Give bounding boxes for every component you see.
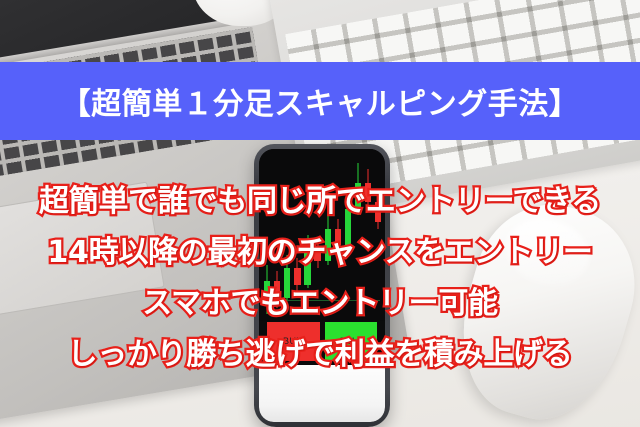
headline-line-3: スマホでもエントリー可能	[142, 278, 498, 329]
headline-line-1: 超簡単で誰でも同じ所でエントリーできる	[39, 176, 601, 227]
thumbnail-image: BUY SELL 【超簡単１分足スキャルピング手法】 超簡単で誰でも同じ所でエン…	[0, 0, 640, 427]
banner-title-text: 【超簡単１分足スキャルピング手法】	[61, 79, 580, 123]
headline-block: 超簡単で誰でも同じ所でエントリーできる 14時以降の最初のチャンスをエントリー …	[0, 176, 640, 380]
title-banner: 【超簡単１分足スキャルピング手法】	[0, 62, 640, 140]
headline-line-2: 14時以降の最初のチャンスをエントリー	[47, 227, 592, 278]
headline-line-4: しっかり勝ち逃げで利益を積み上げる	[68, 329, 573, 380]
